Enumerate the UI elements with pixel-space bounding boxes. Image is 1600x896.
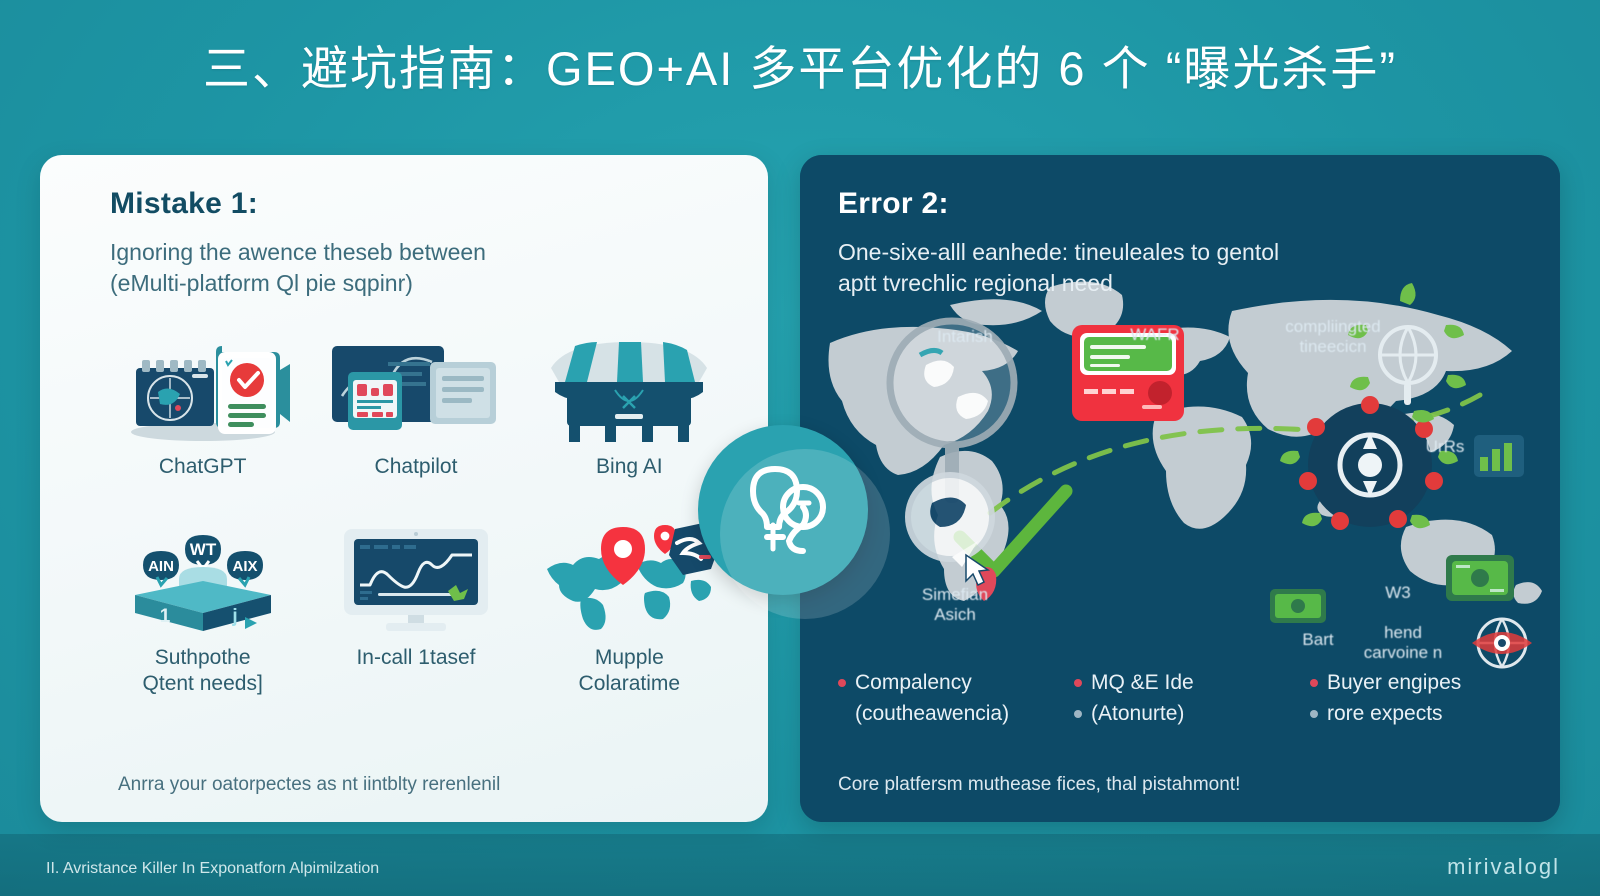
platform-label: Chatpilot <box>375 454 458 480</box>
map-label-intarish: Intarish <box>920 327 1010 347</box>
map-label-simefian: Simefian Asich <box>900 585 1010 626</box>
error-2-card: Error 2: One-sixe-alll eanhede: tineulea… <box>800 155 1560 822</box>
phone-dashboard-icon <box>118 330 288 442</box>
bullet-col-3: Buyer engipes rore expects <box>1310 669 1532 730</box>
left-card-subtitle-line1: Ignoring the awence theseb between <box>110 237 728 268</box>
svg-text:AIN: AIN <box>148 558 174 575</box>
right-card-subtitle-line1: One-sixe-alll eanhede: tineuleales to ge… <box>838 237 1520 268</box>
bullet-item-sub: (Atonurte) <box>1074 700 1296 728</box>
left-card-header: Mistake 1: Ignoring the awence theseb be… <box>110 187 728 299</box>
platform-label: Bing AI <box>596 454 663 480</box>
bullet-dot-icon <box>838 679 846 687</box>
platform-item-mupple[interactable]: Mupple Colaratime <box>523 521 736 686</box>
map-label-compliingted: compliingted tineecicn <box>1278 317 1388 358</box>
right-card-kicker: Error 2: <box>838 187 1520 221</box>
svg-text:WT: WT <box>189 540 216 559</box>
bullet-col-1: Compalency (coutheawencia) <box>838 669 1060 730</box>
platform-item-chatpilot[interactable]: Chatpilot <box>309 330 522 495</box>
right-card-header: Error 2: One-sixe-alll eanhede: tineulea… <box>838 187 1520 299</box>
bullet-item: MQ &E Ide <box>1074 669 1296 697</box>
left-card-footer: Anrra your oatorpectes as nt iintblty re… <box>118 774 728 796</box>
platform-item-in-call[interactable]: In-call 1tasef <box>309 521 522 686</box>
bullet-dot-icon <box>1310 679 1318 687</box>
page-title: 三、避坑指南：GEO+AI 多平台优化的 6 个 “曝光杀手” <box>0 30 1600 99</box>
world-pin-icon <box>541 521 717 633</box>
lightbulb-idea-icon <box>733 455 833 565</box>
map-label-urrs: UrRs <box>1420 437 1470 457</box>
platform-item-suthpothe[interactable]: WT AIN AIX 1 j <box>96 521 309 686</box>
bullet-item: Compalency <box>838 669 1060 697</box>
bullet-item-sub: (coutheawencia) <box>838 700 1060 728</box>
platform-icon-grid: ChatGPT <box>96 330 736 686</box>
svg-text:1: 1 <box>159 606 170 627</box>
mistake-1-card: Mistake 1: Ignoring the awence theseb be… <box>40 155 768 822</box>
right-card-footer: Core platfersm muthease fices, thal pist… <box>838 774 1520 796</box>
platform-label: ChatGPT <box>159 454 247 480</box>
desktop-tablet-icon <box>326 330 506 442</box>
svg-text:AIX: AIX <box>232 558 257 575</box>
map-label-w3: W3 <box>1378 583 1418 603</box>
platform-label: In-call 1tasef <box>356 645 475 671</box>
center-badge[interactable] <box>698 425 868 595</box>
bullet-dot-icon <box>1074 710 1082 718</box>
bullet-col-2: MQ &E Ide (Atonurte) <box>1074 669 1296 730</box>
platform-item-bing-ai[interactable]: Bing AI <box>523 330 736 495</box>
bullet-item-sub: rore expects <box>1310 700 1532 728</box>
platform-item-chatgpt[interactable]: ChatGPT <box>96 330 309 495</box>
left-card-kicker: Mistake 1: <box>110 187 728 221</box>
svg-text:j: j <box>231 606 237 627</box>
map-label-hend-carvoine: hend carvoine n <box>1348 623 1458 664</box>
monitor-chart-icon <box>330 521 502 633</box>
map-label-bart: Bart <box>1290 630 1346 650</box>
right-card-subtitle-line2: aptt tvrechlic regional need <box>838 268 1520 299</box>
storefront-icon <box>545 330 713 442</box>
platform-label: Suthpothe Qtent needs] <box>143 645 263 698</box>
platform-label: Mupple Colaratime <box>579 645 681 698</box>
footer-caption: II. Avristance Killer In Exponatforn Alp… <box>46 860 379 878</box>
brand-watermark: mirivalogl <box>1447 854 1560 880</box>
ai-box-icon: WT AIN AIX 1 j <box>123 521 283 633</box>
bullet-dot-icon <box>1074 679 1082 687</box>
map-label-wafr: WAFR <box>1120 325 1190 345</box>
bullet-dot-icon <box>1310 710 1318 718</box>
left-card-subtitle-line2: (eMulti-platform Ql pie sqpinr) <box>110 268 728 299</box>
error-bullets: Compalency (coutheawencia) MQ &E Ide (At… <box>838 669 1532 730</box>
bullet-item: Buyer engipes <box>1310 669 1532 697</box>
